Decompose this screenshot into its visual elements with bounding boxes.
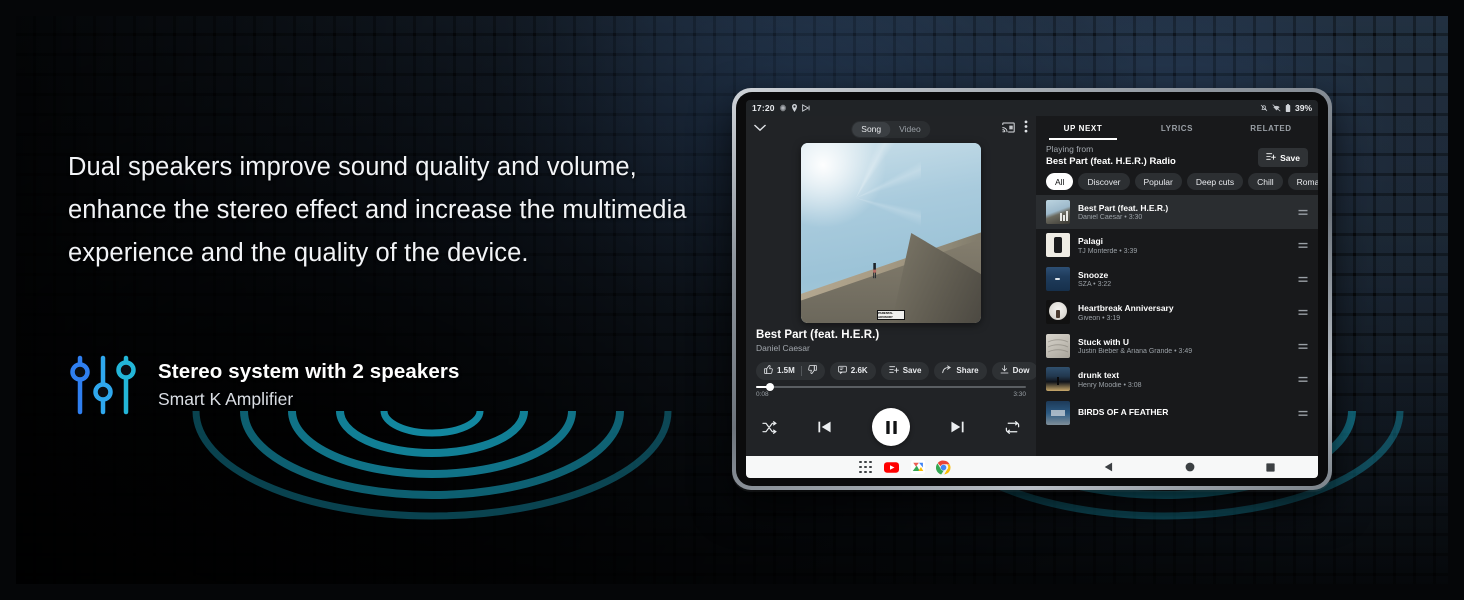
playing-from-section: Playing from Best Part (feat. H.E.R.) Ra… [1036, 140, 1318, 173]
segment-song[interactable]: Song [852, 122, 890, 137]
list-item[interactable]: Heartbreak Anniversary Giveon • 3:19 [1036, 296, 1318, 330]
song-title: Heartbreak Anniversary [1078, 303, 1290, 313]
queue-song-list[interactable]: Best Part (feat. H.E.R.) Daniel Caesar •… [1036, 195, 1318, 456]
chip-romance[interactable]: Romance [1288, 173, 1318, 190]
progress-bar[interactable] [756, 386, 1026, 388]
chip-discover[interactable]: Discover [1078, 173, 1129, 190]
chip-popular[interactable]: Popular [1135, 173, 1182, 190]
play-pause-button[interactable] [872, 408, 910, 446]
elapsed-time: 0:08 [756, 391, 769, 398]
playlist-add-icon [889, 365, 899, 376]
chip-all[interactable]: All [1046, 173, 1073, 190]
song-title: drunk text [1078, 370, 1290, 380]
system-navigation-bar [746, 456, 1318, 478]
feature-subtitle: Smart K Amplifier [158, 389, 459, 410]
playlist-add-icon [1266, 152, 1276, 163]
progress-knob[interactable] [766, 383, 774, 391]
list-item[interactable]: Stuck with U Justin Bieber & Ariana Gran… [1036, 329, 1318, 363]
equalizer-sliders-icon [68, 354, 138, 416]
chip-deep-cuts[interactable]: Deep cuts [1187, 173, 1243, 190]
save-radio-label: Save [1280, 153, 1300, 163]
song-title: BIRDS OF A FEATHER [1078, 407, 1290, 417]
share-label: Share [956, 366, 978, 375]
drag-handle-icon[interactable] [1298, 337, 1308, 355]
song-thumbnail [1046, 401, 1070, 425]
back-icon[interactable] [1101, 460, 1116, 475]
cast-icon[interactable] [1002, 120, 1015, 138]
song-title: Best Part (feat. H.E.R.) [1078, 203, 1290, 213]
list-item[interactable]: Snooze SZA • 3:22 [1036, 262, 1318, 296]
feature-title: Stereo system with 2 speakers [158, 360, 459, 384]
playing-from-label: Playing from [1046, 144, 1250, 154]
save-label: Save [903, 366, 922, 375]
repeat-icon[interactable] [1005, 421, 1020, 434]
art-lens-streaks [801, 143, 921, 263]
youtube-music-app: Song Video [746, 116, 1318, 456]
song-video-toggle[interactable]: Song Video [851, 121, 930, 138]
segment-video[interactable]: Video [890, 122, 930, 137]
system-buttons [1101, 460, 1278, 475]
song-subtitle: Henry Moodie • 3:08 [1078, 382, 1290, 389]
tablet-device: 17:20 [732, 88, 1332, 490]
more-vertical-icon[interactable] [1024, 120, 1028, 138]
album-art-container: PARENTAL ADVISORY [746, 142, 1036, 329]
tab-lyrics[interactable]: LYRICS [1130, 116, 1224, 140]
song-thumbnail [1046, 200, 1070, 224]
thumb-down-icon[interactable] [808, 365, 817, 376]
song-thumbnail [1046, 267, 1070, 291]
share-pill[interactable]: Share [934, 362, 986, 380]
song-subtitle: Justin Bieber & Ariana Grande • 3:49 [1078, 348, 1290, 355]
share-icon [942, 365, 952, 376]
location-pin-icon [791, 104, 798, 112]
queue-tabs: UP NEXT LYRICS RELATED [1036, 116, 1318, 140]
art-person [871, 263, 878, 279]
chevron-down-icon[interactable] [754, 124, 766, 135]
song-subtitle: TJ Monterde • 3:39 [1078, 248, 1290, 255]
drag-handle-icon[interactable] [1298, 303, 1308, 321]
comment-count: 2.6K [851, 366, 868, 375]
like-dislike-pill[interactable]: 1.5M [756, 362, 825, 380]
feature-block: Stereo system with 2 speakers Smart K Am… [68, 354, 459, 416]
filter-chip-row: All Discover Popular Deep cuts Chill Rom… [1036, 173, 1318, 195]
player-top-bar: Song Video [746, 116, 1036, 142]
transport-controls [746, 398, 1036, 456]
song-subtitle: SZA • 3:22 [1078, 281, 1290, 288]
google-photos-icon[interactable] [910, 460, 925, 475]
like-count: 1.5M [777, 366, 795, 375]
settings-gear-icon [779, 104, 787, 112]
pill-divider [801, 366, 802, 376]
home-icon[interactable] [1182, 460, 1197, 475]
comment-icon [838, 365, 847, 376]
notifications-off-icon [1260, 104, 1268, 112]
app-grid-icon[interactable] [858, 460, 873, 475]
action-pill-row: 1.5M [746, 361, 1036, 380]
headline-text: Dual speakers improve sound quality and … [68, 146, 688, 275]
wifi-off-icon [1272, 104, 1281, 112]
play-triangle-icon [802, 104, 811, 112]
pause-icon [885, 420, 898, 435]
song-thumbnail [1046, 233, 1070, 257]
track-meta: Best Part (feat. H.E.R.) Daniel Caesar [746, 329, 1036, 353]
download-label: Dow [1013, 366, 1030, 375]
track-artist: Daniel Caesar [756, 343, 1026, 353]
save-pill[interactable]: Save [881, 362, 930, 380]
song-title: Palagi [1078, 236, 1290, 246]
chip-chill[interactable]: Chill [1248, 173, 1283, 190]
status-bar: 17:20 [746, 100, 1318, 116]
playing-from-title: Best Part (feat. H.E.R.) Radio [1046, 156, 1250, 167]
status-time: 17:20 [752, 103, 775, 113]
youtube-icon[interactable] [884, 460, 899, 475]
list-item[interactable]: BIRDS OF A FEATHER [1036, 396, 1318, 430]
skip-next-icon[interactable] [950, 420, 965, 434]
album-art[interactable]: PARENTAL ADVISORY [801, 143, 981, 323]
song-thumbnail [1046, 300, 1070, 324]
download-icon [1000, 365, 1009, 376]
song-thumbnail [1046, 334, 1070, 358]
save-radio-button[interactable]: Save [1258, 148, 1308, 167]
song-thumbnail [1046, 367, 1070, 391]
progress-section: 0:08 3:30 [746, 380, 1036, 398]
tablet-screen: 17:20 [746, 100, 1318, 478]
drag-handle-icon[interactable] [1298, 203, 1308, 221]
shuffle-icon[interactable] [762, 421, 777, 434]
drag-handle-icon[interactable] [1298, 236, 1308, 254]
promo-banner: Dual speakers improve sound quality and … [0, 0, 1464, 600]
queue-panel: UP NEXT LYRICS RELATED Playing from Best… [1036, 116, 1318, 456]
drag-handle-icon[interactable] [1298, 270, 1308, 288]
tab-up-next[interactable]: UP NEXT [1036, 116, 1130, 140]
download-pill[interactable]: Dow [992, 362, 1036, 380]
promo-panel: Dual speakers improve sound quality and … [16, 16, 1448, 584]
song-title: Stuck with U [1078, 337, 1290, 347]
song-title: Snooze [1078, 270, 1290, 280]
drag-handle-icon[interactable] [1298, 404, 1308, 422]
tablet-bezel: 17:20 [736, 92, 1328, 486]
list-item[interactable]: Best Part (feat. H.E.R.) Daniel Caesar •… [1036, 195, 1318, 229]
song-subtitle: Giveon • 3:19 [1078, 315, 1290, 322]
song-subtitle: Daniel Caesar • 3:30 [1078, 214, 1290, 221]
list-item[interactable]: Palagi TJ Monterde • 3:39 [1036, 229, 1318, 263]
taskbar-apps [858, 460, 951, 475]
list-item[interactable]: drunk text Henry Moodie • 3:08 [1036, 363, 1318, 397]
battery-percent: 39% [1295, 103, 1312, 113]
recents-icon[interactable] [1263, 460, 1278, 475]
drag-handle-icon[interactable] [1298, 370, 1308, 388]
duration-time: 3:30 [1013, 391, 1026, 398]
track-title: Best Part (feat. H.E.R.) [756, 329, 1026, 341]
skip-previous-icon[interactable] [817, 420, 832, 434]
marketing-copy: Dual speakers improve sound quality and … [68, 146, 688, 275]
now-playing-panel: Song Video [746, 116, 1036, 456]
comments-pill[interactable]: 2.6K [830, 362, 876, 380]
chrome-icon[interactable] [936, 460, 951, 475]
tab-related[interactable]: RELATED [1224, 116, 1318, 140]
battery-icon [1285, 104, 1291, 112]
thumb-up-icon[interactable] [764, 365, 773, 376]
parental-advisory-label: PARENTAL ADVISORY [877, 310, 905, 320]
